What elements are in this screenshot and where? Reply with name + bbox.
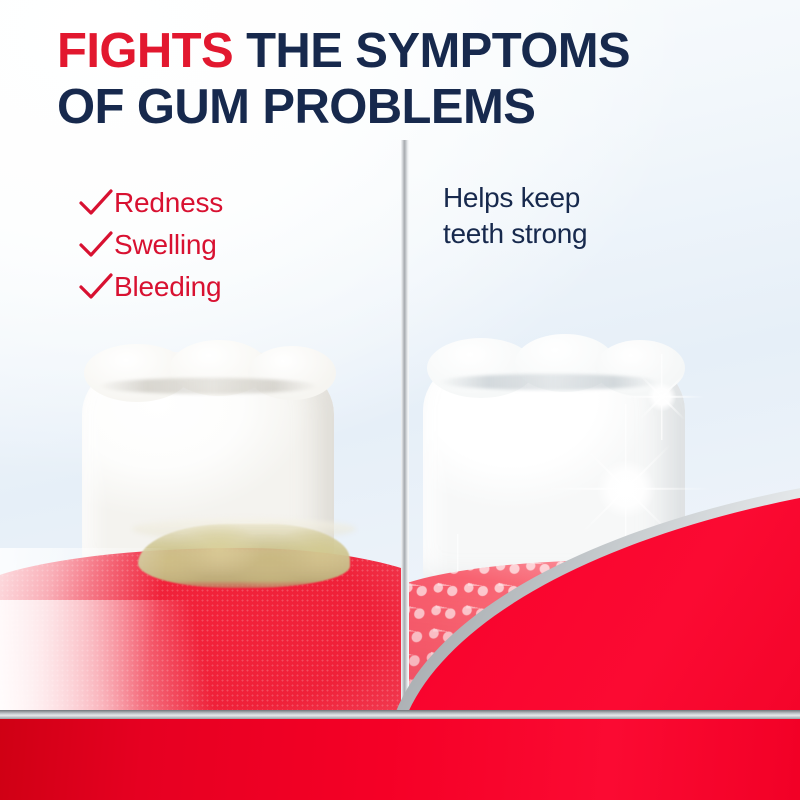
check-icon: [78, 272, 114, 302]
bottom-left-fade: [0, 600, 240, 718]
claim-text: Helps keep teeth strong: [443, 180, 743, 252]
list-item-label: Redness: [114, 188, 223, 218]
footer-band: [0, 718, 800, 800]
band-silver-edge: [0, 710, 800, 719]
benefit-list: Redness Swelling Bleeding: [78, 182, 223, 308]
list-item: Bleeding: [78, 266, 223, 308]
tooth-groove: [439, 374, 659, 390]
list-item-label: Swelling: [114, 230, 217, 260]
ad-creative: FIGHTS THE SYMPTOMS OF GUM PROBLEMS: [0, 0, 800, 800]
claim-line-2: teeth strong: [443, 216, 743, 252]
vertical-divider: [401, 140, 409, 720]
tooth-groove: [98, 378, 318, 394]
list-item: Redness: [78, 182, 223, 224]
list-item-label: Bleeding: [114, 272, 221, 302]
check-icon: [78, 230, 114, 260]
claim-line-1: Helps keep: [443, 180, 743, 216]
check-icon: [78, 188, 114, 218]
list-item: Swelling: [78, 224, 223, 266]
